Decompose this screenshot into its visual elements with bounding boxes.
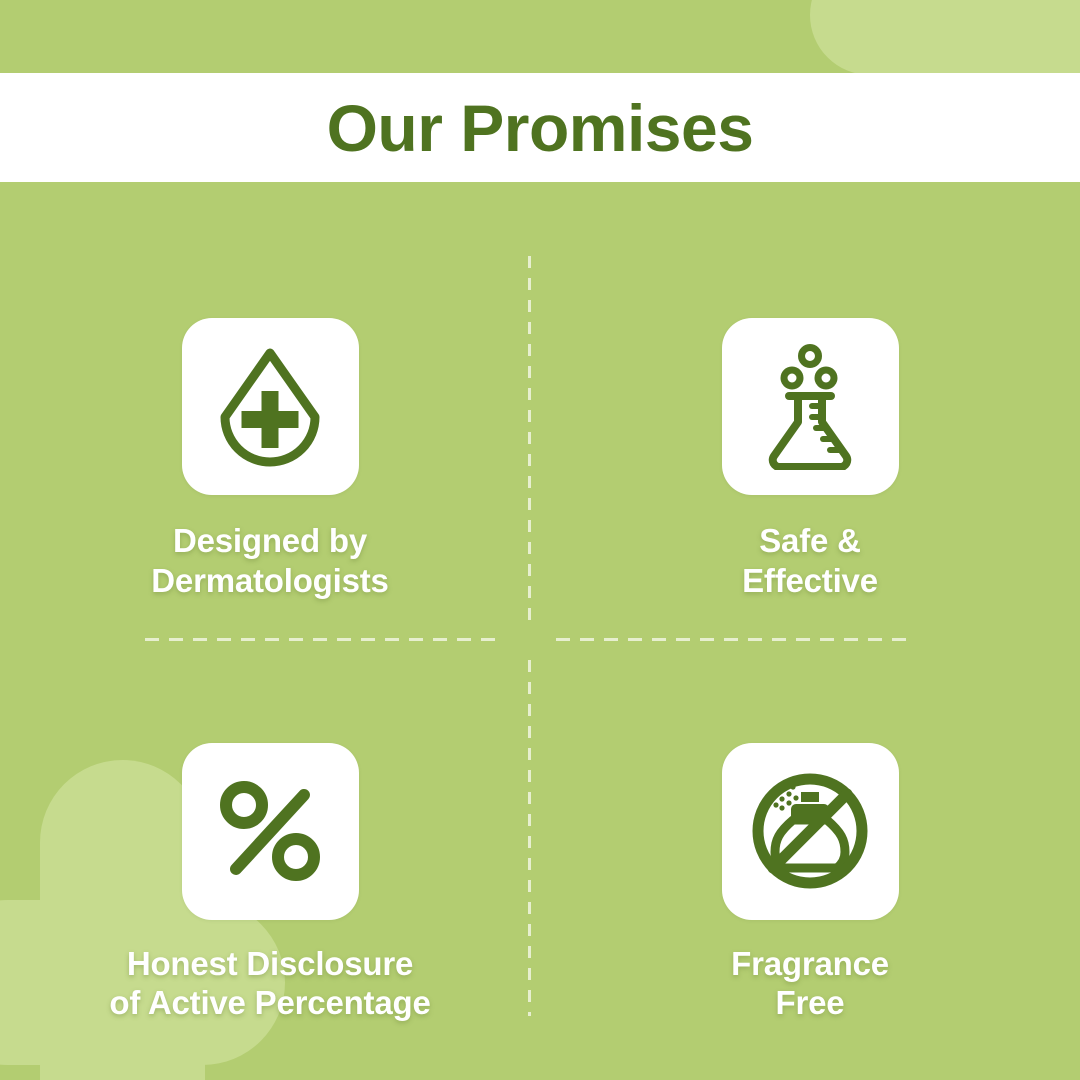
icon-card (722, 743, 899, 920)
promises-graphic: Our Promises Designed by Dermatologists (0, 0, 1080, 1080)
no-fragrance-icon (749, 770, 871, 892)
page-title: Our Promises (327, 95, 754, 161)
promise-item-designed-by-dermatologists: Designed by Dermatologists (0, 185, 540, 633)
promise-label: Safe & Effective (742, 521, 878, 600)
promise-item-safe-and-effective: Safe & Effective (540, 185, 1080, 633)
header-band: Our Promises (0, 73, 1080, 182)
flask-bubbles-icon (754, 344, 866, 470)
promise-label: Honest Disclosure of Active Percentage (109, 944, 430, 1023)
percent-icon (216, 777, 324, 885)
blob-bar-horizontal (810, 0, 1080, 75)
promise-label: Fragrance Free (731, 944, 889, 1023)
promise-label: Designed by Dermatologists (151, 521, 388, 600)
icon-card (182, 318, 359, 495)
droplet-plus-icon (211, 345, 329, 469)
promise-grid: Designed by Dermatologists (0, 185, 1080, 1080)
icon-card (722, 318, 899, 495)
promise-item-fragrance-free: Fragrance Free (540, 633, 1080, 1080)
promise-item-honest-disclosure: Honest Disclosure of Active Percentage (0, 633, 540, 1080)
icon-card (182, 743, 359, 920)
